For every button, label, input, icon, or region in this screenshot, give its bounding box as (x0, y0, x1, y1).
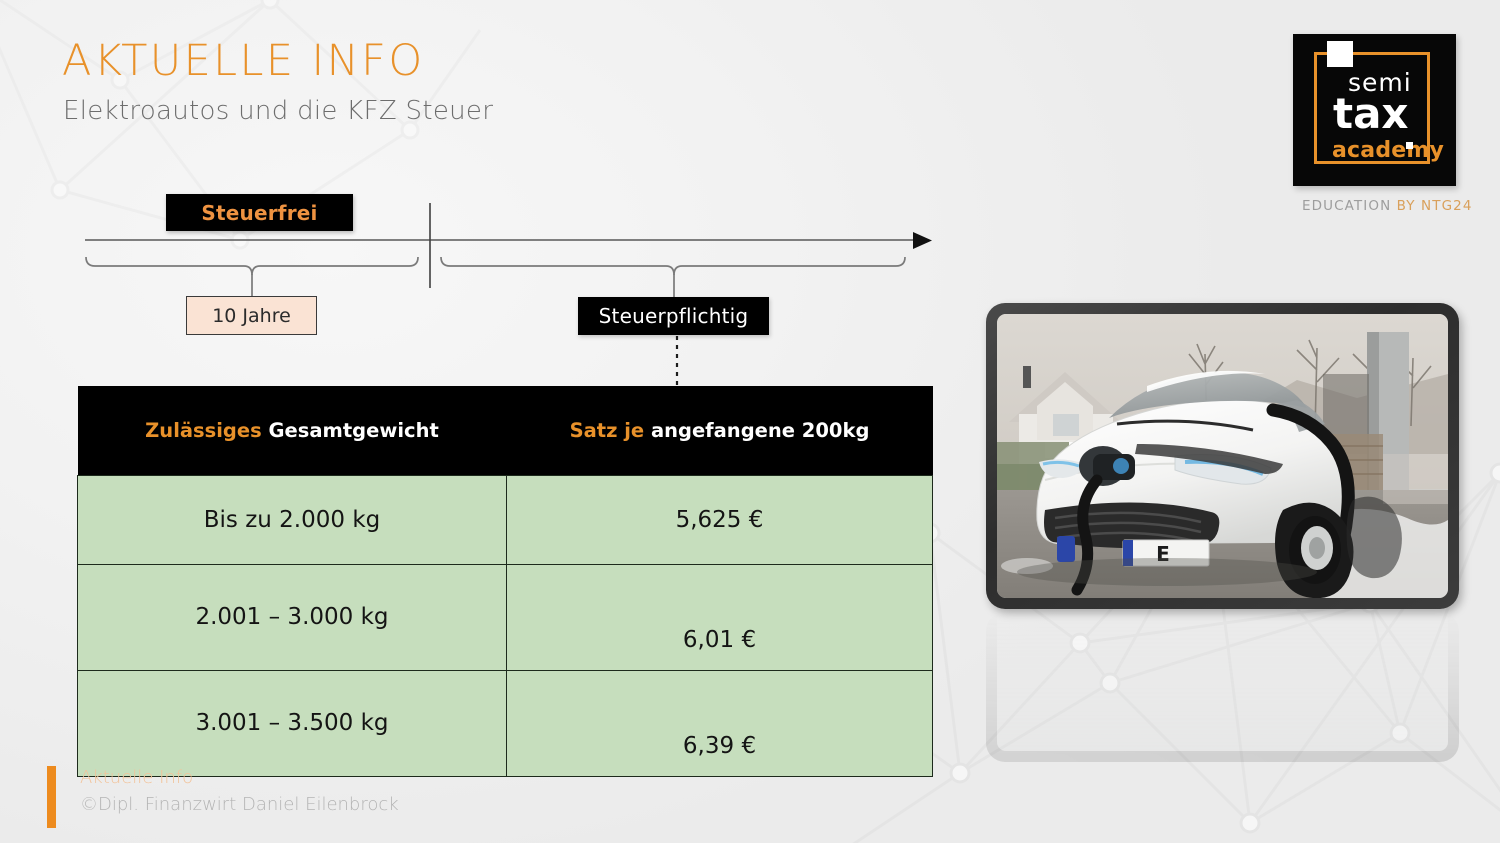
logo-text-academy: academy (1332, 140, 1444, 162)
badge-steuerpflichtig-label: Steuerpflichtig (599, 304, 749, 328)
logo-caption-plain: EDUCATION (1302, 198, 1397, 214)
cell-rate-1: 5,625 € (507, 475, 933, 564)
logo-dot-icon (1406, 142, 1413, 149)
brace-taxable (441, 257, 905, 275)
electric-car-photo: E (997, 314, 1448, 598)
cell-rate-3: 6,39 € (507, 670, 933, 776)
footer-copyright: ©Dipl. Finanzwirt Daniel Eilenbrock (80, 794, 399, 815)
brace-tax-free (86, 257, 418, 275)
table-header-weight-plain: Gesamtgewicht (262, 419, 439, 442)
footer-accent-bar (47, 766, 56, 828)
table-row: Bis zu 2.000 kg 5,625 € (78, 475, 933, 564)
cell-weight-2: 2.001 – 3.000 kg (78, 564, 507, 670)
table-row: 3.001 – 3.500 kg 6,39 € (78, 670, 933, 776)
footer-title: Aktuelle Info (80, 767, 193, 788)
brand-logo: semi tax academy (1293, 34, 1456, 186)
table-header-weight-accent: Zulässiges (145, 419, 262, 442)
table-header-weight: Zulässiges Gesamtgewicht (78, 386, 507, 475)
logo-white-square-icon (1327, 41, 1353, 67)
table-header-rate-plain: angefangene 200kg (644, 419, 869, 442)
badge-steuerfrei-label: Steuerfrei (201, 201, 317, 225)
badge-10-jahre: 10 Jahre (186, 296, 317, 335)
slide-root: AKTUELLE INFO Elektroautos und die KFZ S… (0, 0, 1500, 843)
timeline-arrow-head (913, 232, 932, 249)
cell-rate-2: 6,01 € (507, 564, 933, 670)
logo-caption-accent: BY NTG24 (1397, 198, 1473, 214)
table-header-rate: Satz je angefangene 200kg (507, 386, 933, 475)
table-header-rate-accent: Satz je (570, 419, 645, 442)
table-header-row: Zulässiges Gesamtgewicht Satz je angefan… (78, 386, 933, 475)
cell-weight-3: 3.001 – 3.500 kg (78, 670, 507, 776)
page-subtitle: Elektroautos und die KFZ Steuer (63, 96, 493, 126)
cell-weight-1: Bis zu 2.000 kg (78, 475, 507, 564)
photo-reflection (986, 612, 1459, 762)
tax-rate-table: Zulässiges Gesamtgewicht Satz je angefan… (77, 386, 933, 777)
badge-steuerfrei: Steuerfrei (166, 194, 353, 231)
logo-text-tax: tax (1333, 93, 1409, 135)
badge-10-jahre-label: 10 Jahre (212, 305, 291, 327)
table-row: 2.001 – 3.000 kg 6,01 € (78, 564, 933, 670)
logo-caption: EDUCATION BY NTG24 (1302, 198, 1473, 214)
photo-frame: E (986, 303, 1459, 609)
badge-steuerpflichtig: Steuerpflichtig (578, 297, 769, 335)
electric-car-illustration: E (997, 314, 1448, 598)
page-title: AKTUELLE INFO (62, 39, 425, 84)
